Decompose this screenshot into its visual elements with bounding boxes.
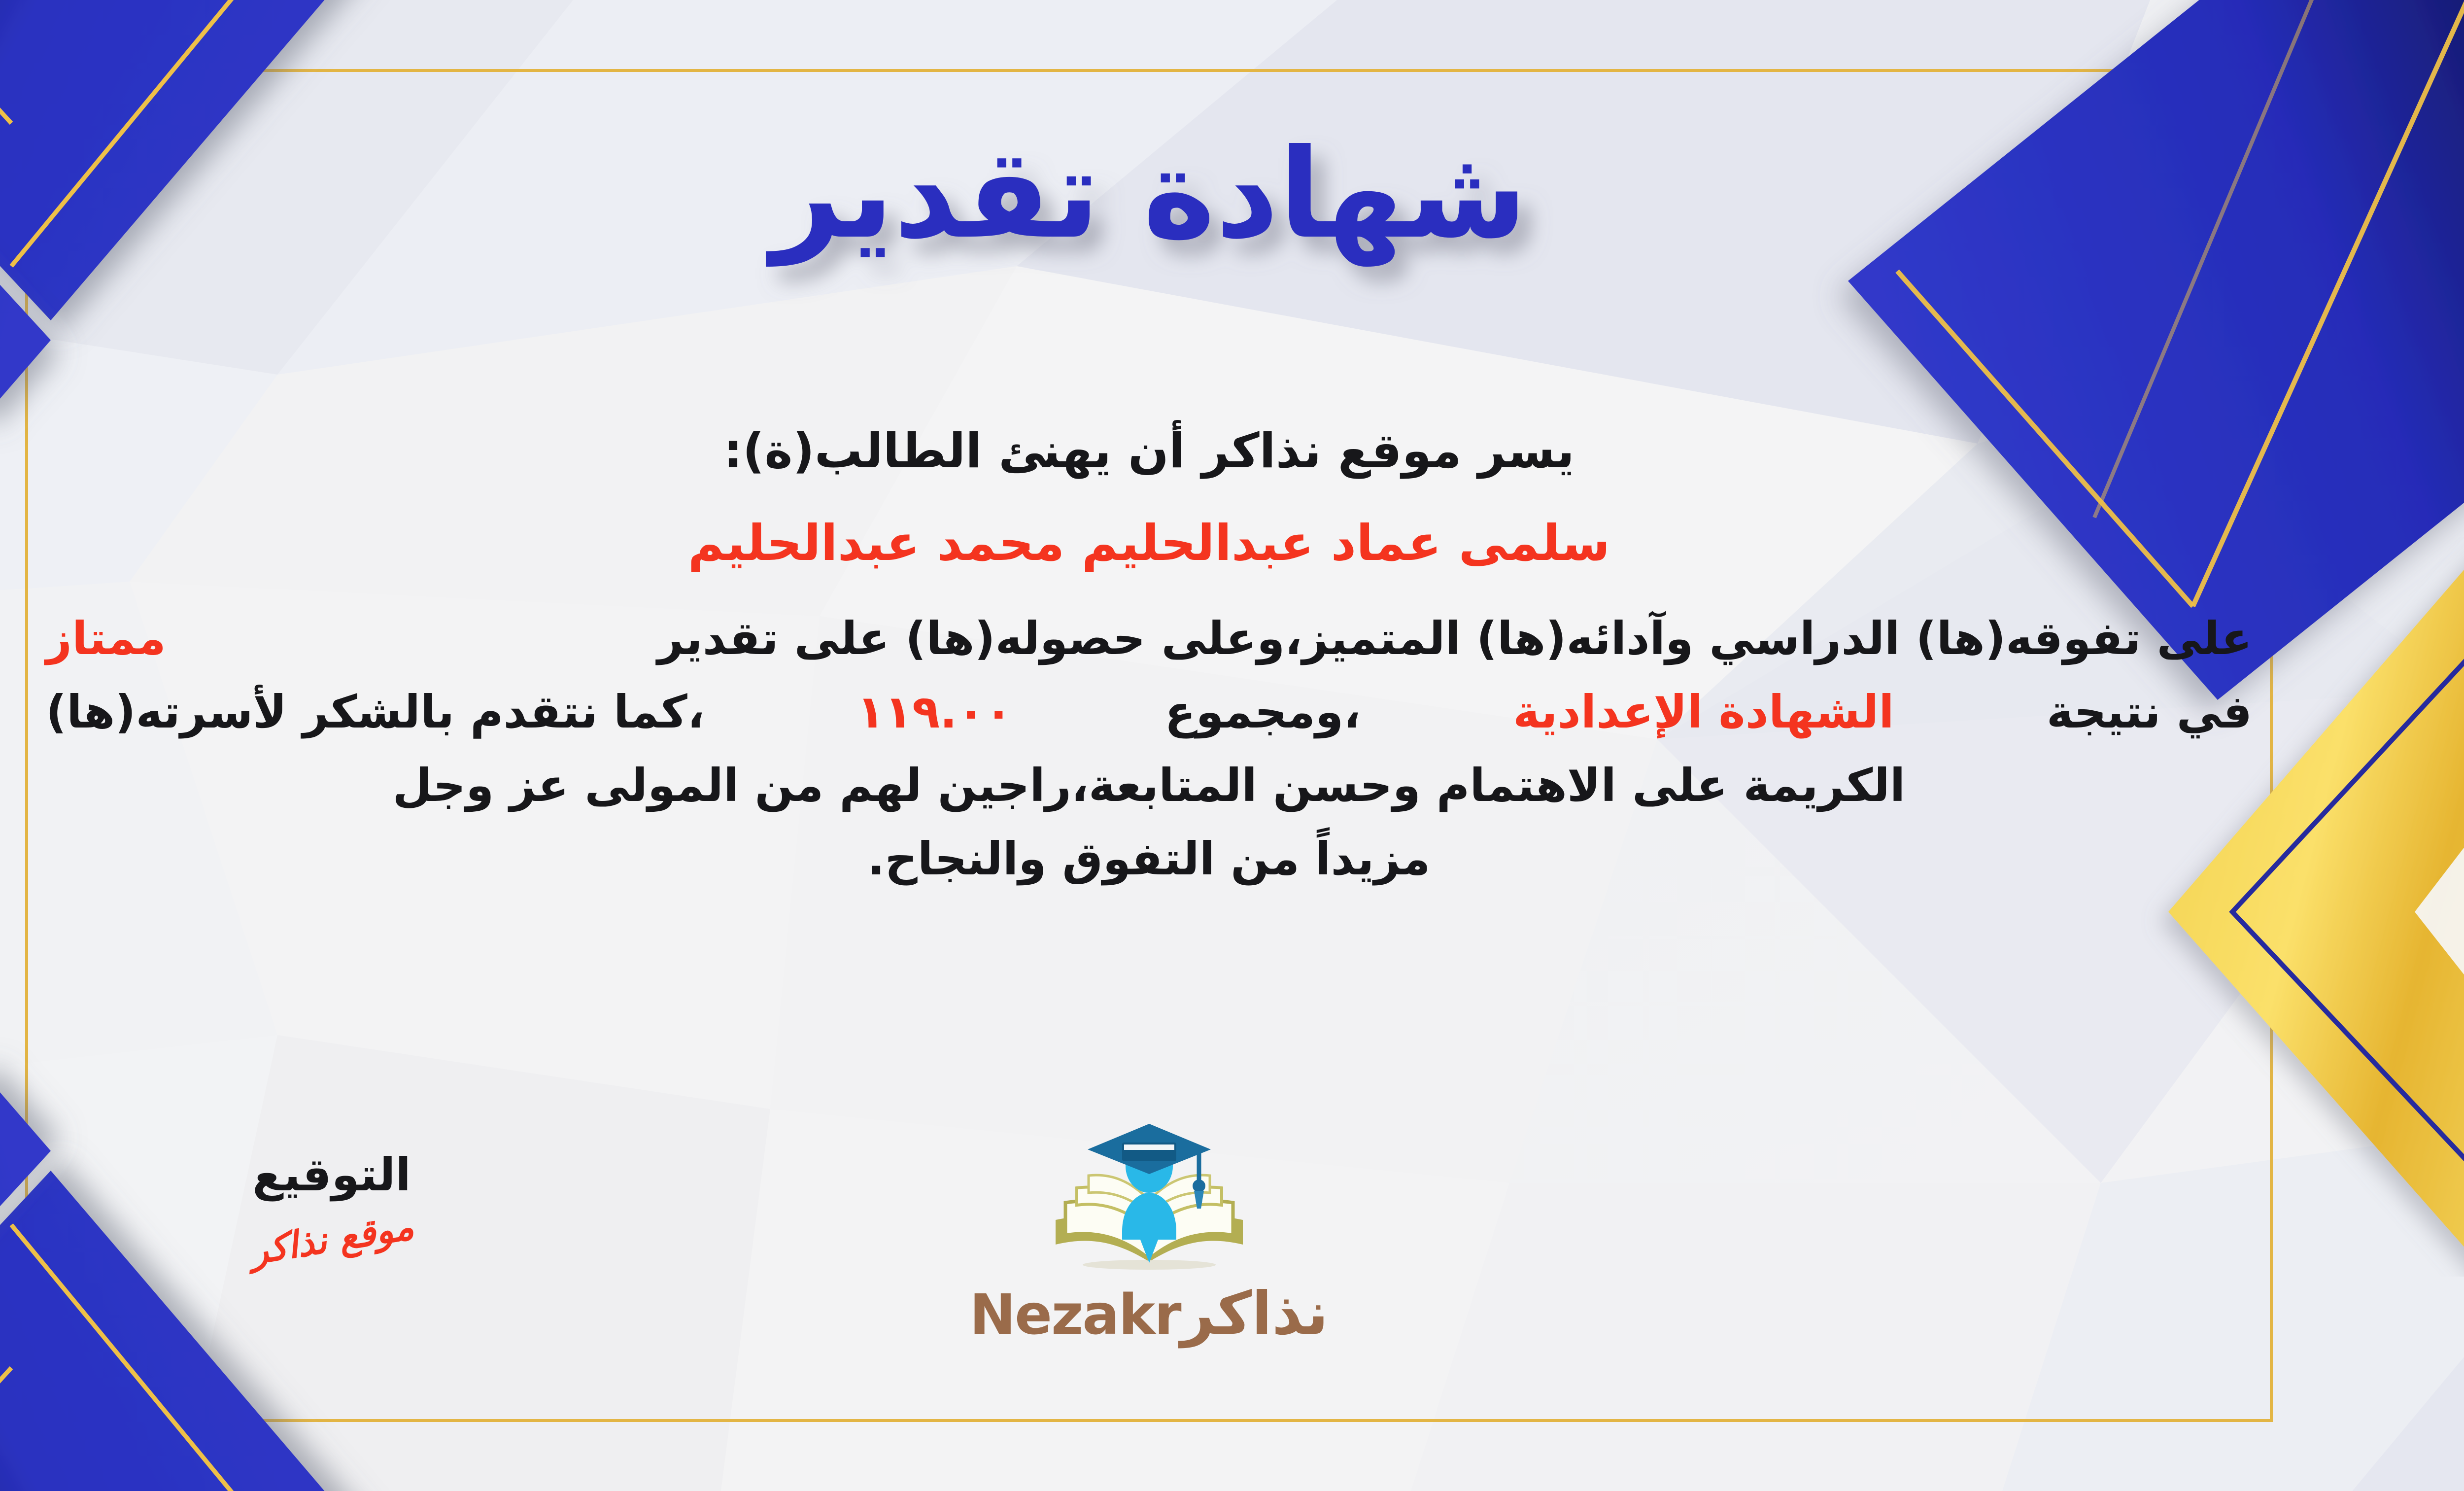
achievement-text: على تفوقه(ها) الدراسي وآدائه(ها) المتميز…: [657, 602, 2252, 675]
site-logo: نذاكرNezakr: [937, 1119, 1361, 1348]
certificate-body: يسر موقع نذاكر أن يهنئ الطالب(ة): سلمى ع…: [46, 414, 2252, 896]
signature-block: التوقيع موقع نذاكر: [139, 1148, 524, 1260]
signature-label: التوقيع: [139, 1148, 524, 1201]
total-label: ،ومجموع: [1165, 675, 1361, 749]
achievement-line-1: على تفوقه(ها) الدراسي وآدائه(ها) المتميز…: [46, 602, 2252, 675]
achievement-line-4: مزيداً من التفوق والنجاح.: [46, 822, 2252, 896]
logo-wordmark: نذاكرNezakr: [937, 1280, 1361, 1348]
achievement-line-3: الكريمة على الاهتمام وحسن المتابعة،راجين…: [46, 749, 2252, 822]
certificate-canvas: شهادة تقدير يسر موقع نذاكر أن يهنئ الطال…: [0, 0, 2464, 1491]
logo-arabic-name: نذاكر: [1181, 1280, 1329, 1348]
thanks-prefix: ،كما نتقدم بالشكر لأسرته(ها): [46, 675, 705, 749]
result-prefix: في نتيجة: [2047, 675, 2252, 749]
logo-latin-name: Nezakr: [969, 1283, 1180, 1347]
achievement-line-2: في نتيجة الشهادة الإعدادية ،ومجموع ١١٩.٠…: [46, 675, 2252, 749]
title-calligraphy: شهادة تقدير: [656, 74, 1642, 311]
certificate-title: شهادة تقدير: [0, 74, 2464, 312]
exam-name: الشهادة الإعدادية: [1513, 675, 1894, 749]
intro-line: يسر موقع نذاكر أن يهنئ الطالب(ة):: [46, 414, 2252, 488]
student-name: سلمى عماد عبدالحليم محمد عبدالحليم: [46, 505, 2252, 581]
grade-value: ممتاز: [46, 602, 166, 675]
total-score: ١١٩.٠٠: [857, 675, 1013, 749]
title-text: شهادة تقدير: [765, 122, 1527, 267]
graduate-book-icon: [1043, 1119, 1255, 1282]
